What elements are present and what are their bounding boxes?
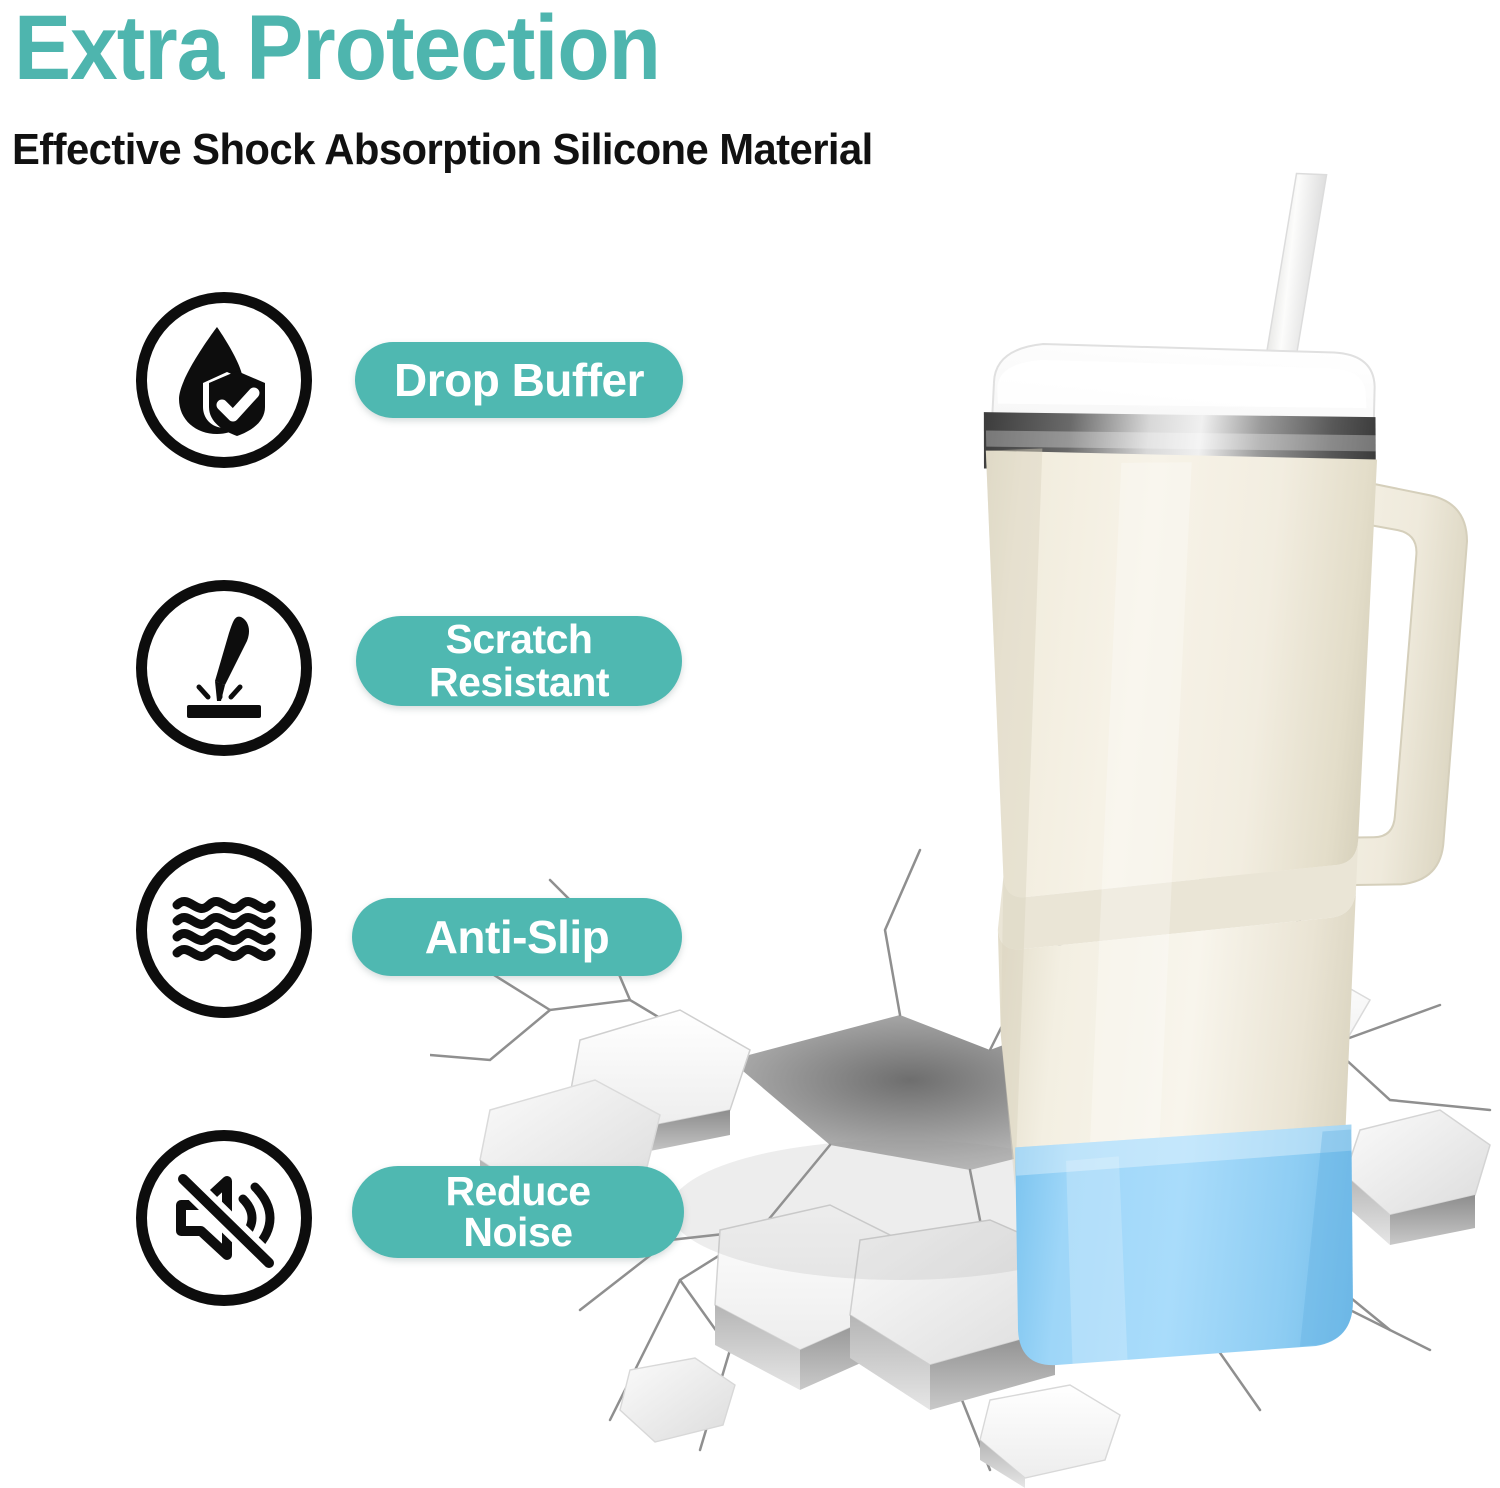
infographic-canvas: Extra Protection Effective Shock Absorpt… <box>0 0 1500 1488</box>
feature-row-reduce-noise: Reduce Noise <box>0 1128 720 1308</box>
feature-label: Drop Buffer <box>394 357 644 403</box>
feature-label-line2: Noise <box>445 1212 590 1253</box>
feature-row-drop-buffer: Drop Buffer <box>0 290 720 470</box>
feature-label-line1: Reduce <box>445 1171 590 1212</box>
feature-pill-drop-buffer[interactable]: Drop Buffer <box>355 342 683 418</box>
wavy-texture-grip-icon <box>136 842 312 1018</box>
tumbler-product-image <box>796 123 1500 1423</box>
muted-speaker-icon <box>136 1130 312 1306</box>
tumbler-body <box>908 419 1416 1232</box>
page-title: Extra Protection <box>14 2 660 94</box>
water-drop-shield-check-icon <box>136 292 312 468</box>
feature-pill-anti-slip[interactable]: Anti-Slip <box>352 898 682 976</box>
feature-label-line1: Scratch <box>429 619 609 660</box>
feature-pill-reduce-noise[interactable]: Reduce Noise <box>352 1166 684 1258</box>
feature-row-scratch-resistant: Scratch Resistant <box>0 578 720 758</box>
feature-pill-scratch-resistant[interactable]: Scratch Resistant <box>356 616 682 706</box>
feature-row-anti-slip: Anti-Slip <box>0 840 720 1020</box>
scratch-stylus-surface-icon <box>136 580 312 756</box>
feature-label-line2: Resistant <box>429 662 609 703</box>
drinking-straw <box>1264 170 1327 373</box>
feature-label: Anti-Slip <box>425 914 610 960</box>
